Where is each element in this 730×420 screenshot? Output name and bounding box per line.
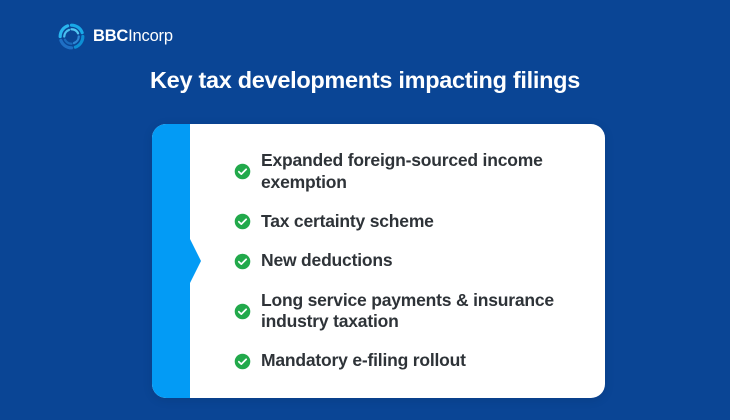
list-item: New deductions: [234, 250, 587, 271]
list-item-label: Mandatory e-filing rollout: [261, 350, 466, 371]
check-circle-icon: [234, 353, 251, 370]
page-title: Key tax developments impacting filings: [0, 66, 730, 94]
slide-canvas: BBCIncorp Key tax developments impacting…: [0, 0, 730, 420]
card-accent-arrow-icon: [190, 239, 201, 283]
bbcincorp-swirl-logo-icon: [57, 22, 86, 51]
brand-name-bold: BBC: [93, 27, 128, 45]
check-circle-icon: [234, 253, 251, 270]
list-item: Tax certainty scheme: [234, 211, 587, 232]
list-item: Long service payments & insurance indust…: [234, 290, 587, 333]
list-item-label: Tax certainty scheme: [261, 211, 434, 232]
list-item: Mandatory e-filing rollout: [234, 350, 587, 371]
check-circle-icon: [234, 163, 251, 180]
highlights-card: Expanded foreign-sourced income exemptio…: [152, 124, 605, 398]
check-circle-icon: [234, 213, 251, 230]
card-accent-bar: [152, 124, 190, 398]
brand-name-light: Incorp: [128, 27, 173, 45]
check-circle-icon: [234, 303, 251, 320]
list-item: Expanded foreign-sourced income exemptio…: [234, 150, 587, 193]
list-item-label: New deductions: [261, 250, 392, 271]
brand-wordmark: BBCIncorp: [93, 28, 173, 45]
list-item-label: Long service payments & insurance indust…: [261, 290, 587, 333]
highlights-list: Expanded foreign-sourced income exemptio…: [234, 124, 587, 398]
list-item-label: Expanded foreign-sourced income exemptio…: [261, 150, 587, 193]
brand-logo: BBCIncorp: [57, 22, 173, 51]
